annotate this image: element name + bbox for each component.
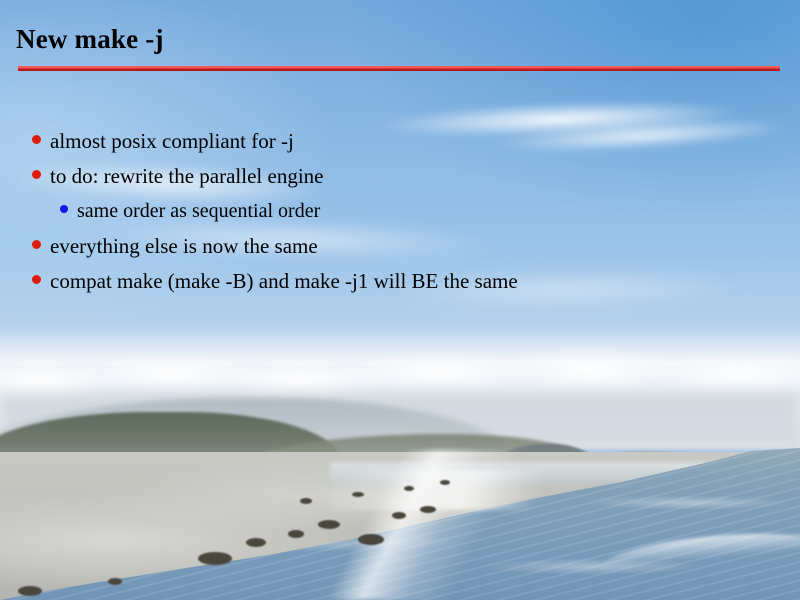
seaweed-clump [392, 512, 406, 519]
list-item-label: compat make (make -B) and make -j1 will … [50, 268, 518, 294]
list-item: compat make (make -B) and make -j1 will … [32, 268, 772, 303]
seaweed-clump [246, 538, 266, 547]
list-item: to do: rewrite the parallel engine [32, 163, 772, 198]
surf-foam-line [330, 470, 630, 510]
list-item: everything else is now the same [32, 233, 772, 268]
page-title: New make -j [16, 24, 164, 55]
seaweed-clump [352, 492, 364, 497]
seaweed-clump [108, 578, 122, 585]
red-bullet-icon [32, 275, 41, 284]
red-bullet-icon [32, 135, 41, 144]
red-bullet-icon [32, 240, 41, 249]
blue-bullet-icon [60, 205, 68, 213]
list-item: almost posix compliant for -j [32, 128, 772, 163]
seaweed-clump [288, 530, 304, 538]
title-underline-rule [18, 66, 780, 71]
bullet-list: almost posix compliant for -j to do: rew… [32, 128, 772, 303]
seaweed-clump [358, 534, 384, 545]
list-item-sub: same order as sequential order [32, 198, 772, 233]
seaweed-clump [404, 486, 414, 491]
seaweed-clump [18, 586, 42, 596]
seaweed-clump [300, 498, 312, 504]
presentation-slide: New make -j almost posix compliant for -… [0, 0, 800, 600]
seaweed-clump [198, 552, 232, 565]
list-item-label: almost posix compliant for -j [50, 128, 294, 154]
list-item-label: same order as sequential order [77, 198, 320, 224]
list-item-label: everything else is now the same [50, 233, 318, 259]
seaweed-clump [440, 480, 450, 485]
seaweed-clump [420, 506, 436, 513]
list-item-label: to do: rewrite the parallel engine [50, 163, 323, 189]
red-bullet-icon [32, 170, 41, 179]
seaweed-clump [318, 520, 340, 529]
